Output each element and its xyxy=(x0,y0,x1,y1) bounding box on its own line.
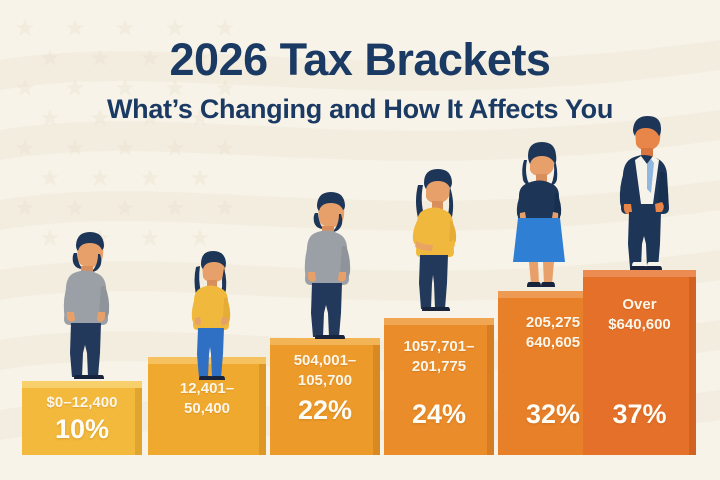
man-gray-sweater-icon xyxy=(50,228,122,383)
person-figure-5 xyxy=(503,138,573,295)
bracket-range-4-line-1: 1057,701– xyxy=(384,338,494,356)
bracket-range-6-line-2: $640,600 xyxy=(583,316,696,334)
bracket-range-2-line-2: 50,400 xyxy=(148,400,266,418)
bracket-range-3-line-1: 504,001– xyxy=(270,352,380,370)
person-figure-6 xyxy=(608,112,680,274)
person-figure-2 xyxy=(178,248,244,383)
man-navy-suit-icon xyxy=(608,112,680,274)
page-title: 2026 Tax Brackets xyxy=(0,34,720,86)
bracket-percent-3: 22% xyxy=(270,396,380,424)
woman-yellow-top-icon xyxy=(178,248,244,383)
bracket-range-3-line-2: 105,700 xyxy=(270,372,380,390)
woman-arms-crossed-icon xyxy=(398,165,468,320)
bracket-percent-1: 10% xyxy=(22,415,142,443)
person-figure-3 xyxy=(292,188,362,343)
person-figure-4 xyxy=(398,165,468,320)
infographic-canvas: 2026 Tax Brackets What’s Changing and Ho… xyxy=(0,0,720,480)
woman-navy-top-blue-skirt-icon xyxy=(503,138,573,295)
bracket-percent-6: 37% xyxy=(583,400,696,428)
person-figure-1 xyxy=(50,228,122,383)
man-gray-sweater-icon xyxy=(292,188,362,343)
bracket-percent-4: 24% xyxy=(384,400,494,428)
bracket-range-4-line-2: 201,775 xyxy=(384,358,494,376)
bracket-range-1: $0–12,400 xyxy=(22,394,142,412)
bracket-range-6-line-1: Over xyxy=(583,296,696,314)
